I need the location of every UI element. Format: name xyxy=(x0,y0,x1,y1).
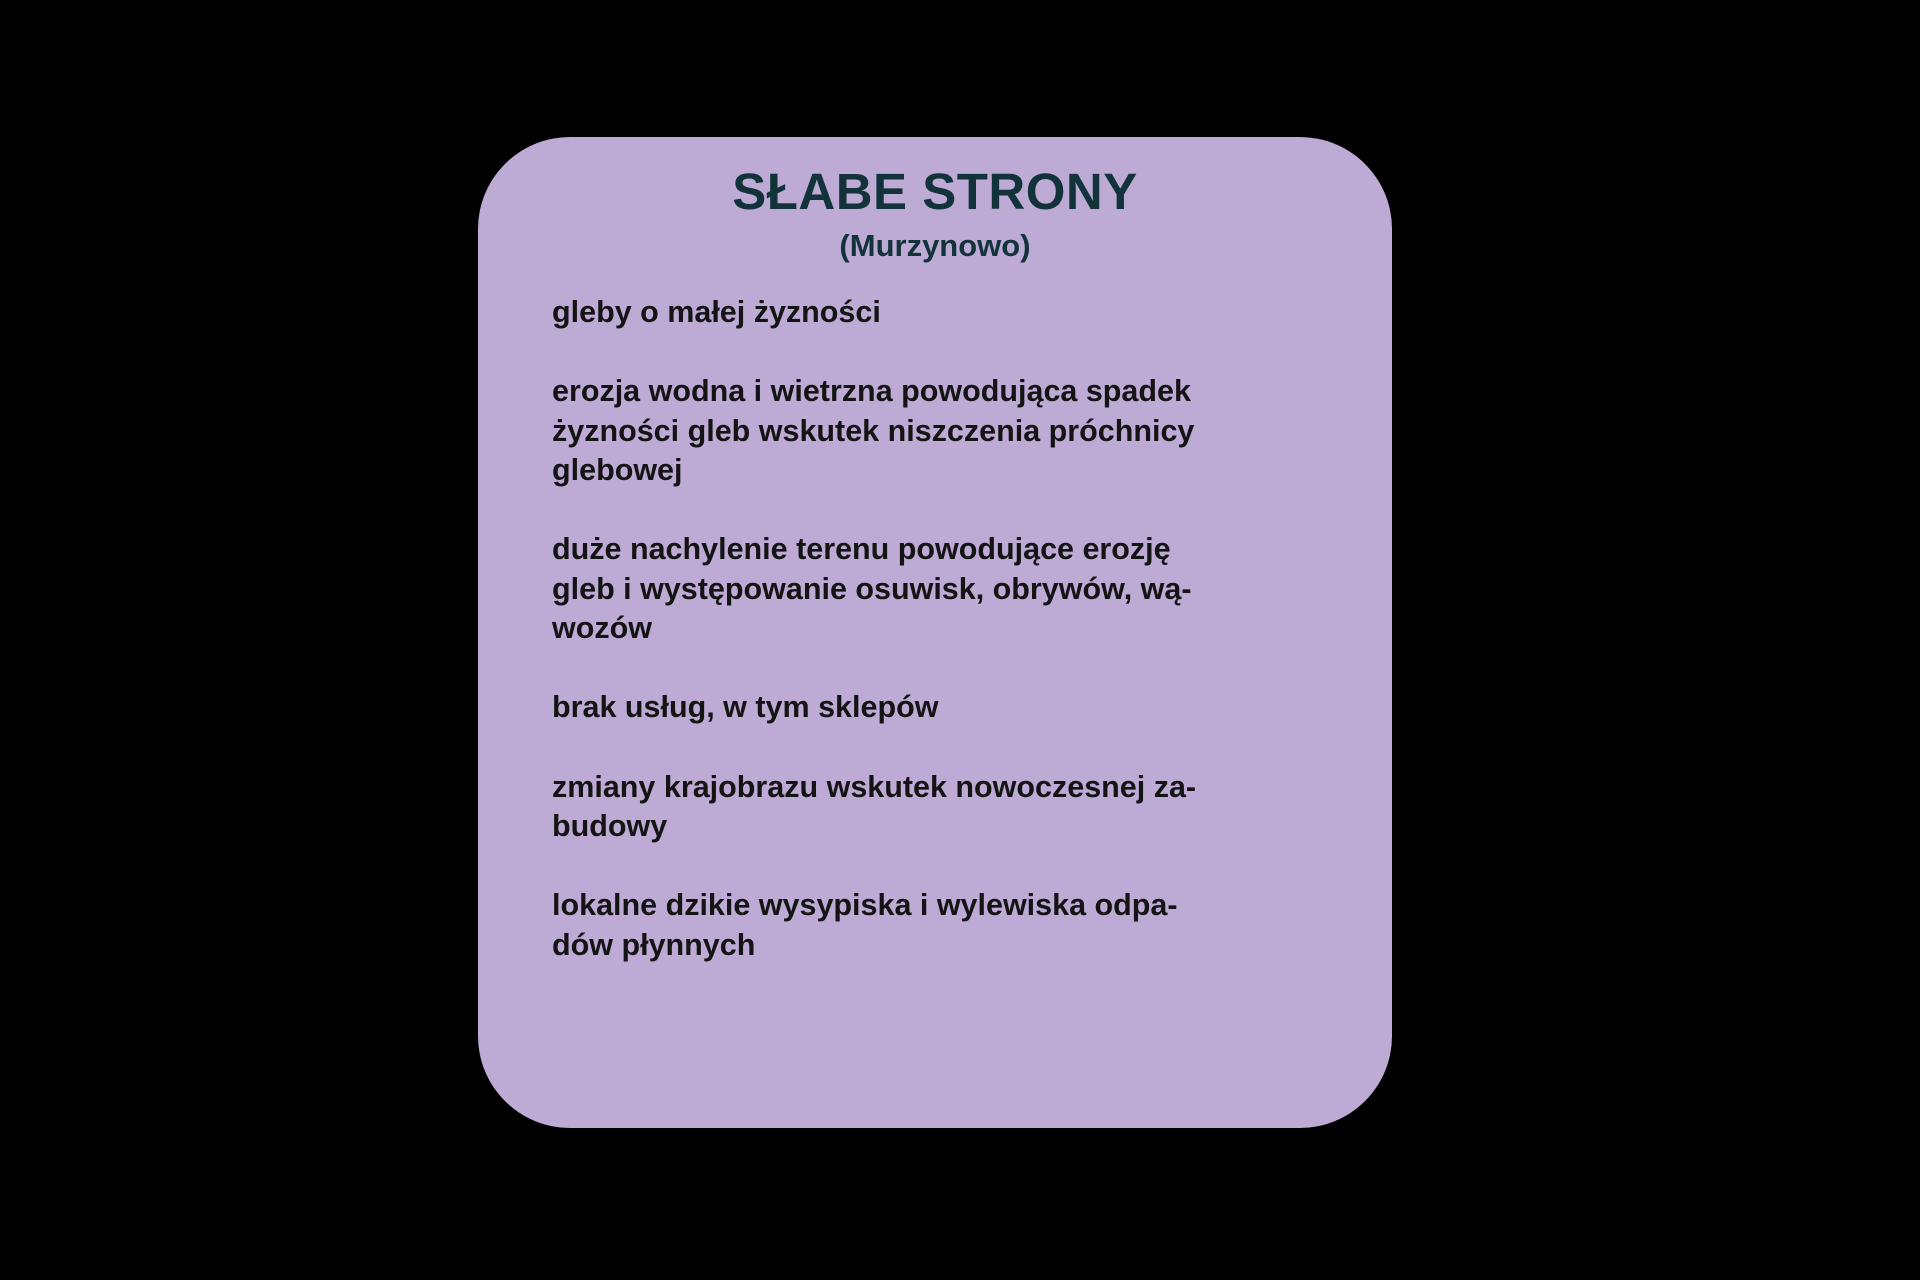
list-item: erozja wodna i wietrzna powodująca spade… xyxy=(552,372,1316,490)
weaknesses-list: gleby o małej żyzności erozja wodna i wi… xyxy=(552,293,1316,965)
swot-weaknesses-card: SŁABE STRONY (Murzynowo) gleby o małej ż… xyxy=(478,137,1392,1128)
list-item: lokalne dzikie wysypiska i wylewiska odp… xyxy=(552,886,1316,965)
list-item: zmiany krajobrazu wskutek nowoczesnej za… xyxy=(552,768,1316,847)
card-title: SŁABE STRONY xyxy=(478,165,1392,219)
list-item: duże nachylenie terenu powodujące erozję… xyxy=(552,530,1316,648)
list-item: brak usług, w tym sklepów xyxy=(552,688,1316,727)
card-subtitle: (Murzynowo) xyxy=(478,229,1392,263)
canvas: SŁABE STRONY (Murzynowo) gleby o małej ż… xyxy=(0,0,1920,1280)
card-header: SŁABE STRONY (Murzynowo) xyxy=(478,137,1392,263)
list-item: gleby o małej żyzności xyxy=(552,293,1316,332)
